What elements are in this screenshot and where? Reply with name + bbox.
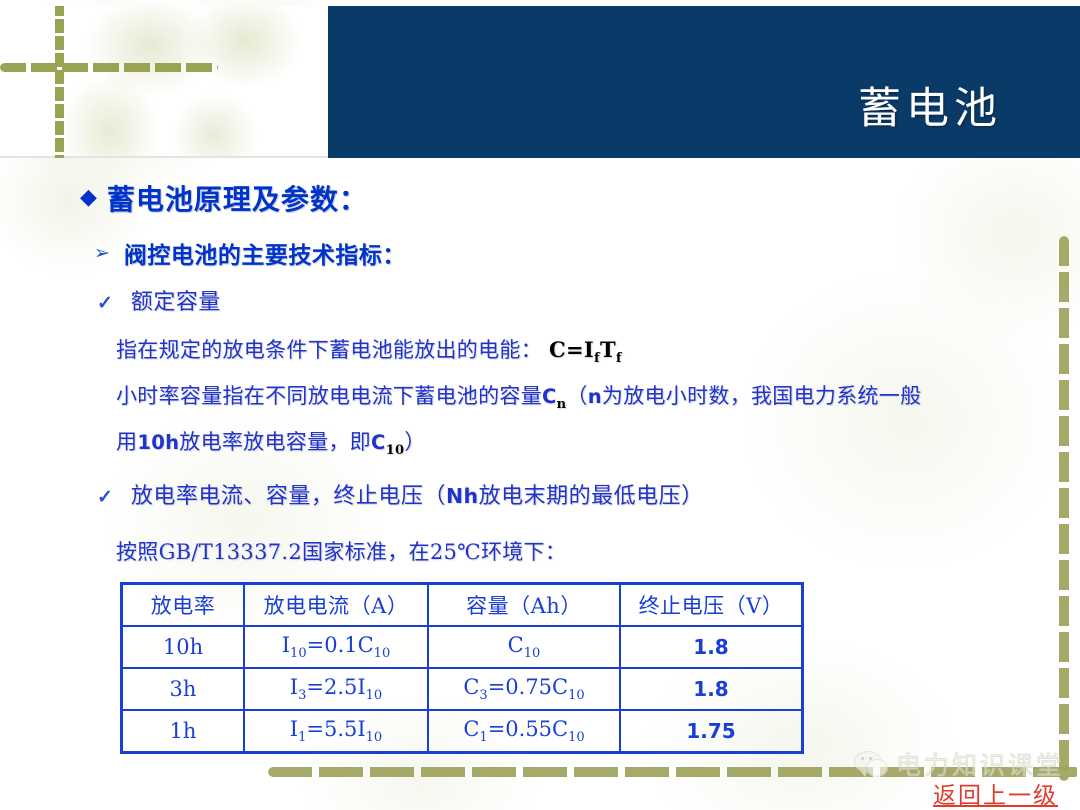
slide-content: ◆ 蓄电池原理及参数： ➢ 阀控电池的主要技术指标： ✓ 额定容量 指在规定的放… (0, 158, 1080, 810)
back-link[interactable]: 返回上一级 (933, 776, 1058, 810)
formula-capacity: C=IfTf (549, 337, 622, 362)
table-header-cell: 终止电压（V） (620, 584, 803, 627)
spec-table: 放电率放电电流（A）容量（Ah）终止电压（V）10hI10=0.1C10C101… (120, 582, 804, 754)
page-title: 蓄电池 (858, 74, 1002, 136)
cell-discharge-current: I3=2.5I10 (244, 668, 428, 710)
table-header-cell: 放电率 (122, 584, 245, 627)
table-header-row: 放电率放电电流（A）容量（Ah）终止电压（V） (122, 584, 803, 627)
bullet-level2-label: 阀控电池的主要技术指标： (124, 236, 406, 270)
hourly-rate-text-b: （n为放电小时数，我国电力系统一般 (566, 384, 921, 408)
table-row: 1hI1=5.5I10C1=0.55C101.75 (122, 710, 803, 753)
spec-table-wrapper: 放电率放电电流（A）容量（Ah）终止电压（V）10hI10=0.1C10C101… (120, 582, 804, 754)
hourly-rate2-sub-10: 10 (386, 443, 405, 458)
paragraph-hourly-rate-line1: 小时率容量指在不同放电电流下蓄电池的容量Cn（n为放电小时数，我国电力系统一般 (116, 380, 921, 412)
vine-horizontal-decor (0, 63, 218, 72)
cell-end-voltage: 1.75 (620, 710, 803, 753)
slide-root: 蓄电池 ◆ 蓄电池原理及参数： ➢ 阀控电池的主要技术指标： ✓ 额定容量 指在… (0, 0, 1080, 810)
table-row: 10hI10=0.1C10C101.8 (122, 626, 803, 668)
paragraph-definition-text: 指在规定的放电条件下蓄电池能放出的电能： (116, 338, 542, 362)
check-bullet-icon: ✓ (97, 294, 113, 313)
paragraph-standard-note: 按照GB/T13337.2国家标准，在25℃环境下： (116, 536, 566, 566)
arrow-bullet-icon: ➢ (94, 244, 110, 263)
cell-capacity: C1=0.55C10 (428, 710, 620, 753)
bullet-check-2-label: 放电率电流、容量，终止电压（Nh放电末期的最低电压） (131, 478, 704, 510)
vine-vertical-decor (55, 6, 64, 158)
corner-decorative-photo (0, 6, 328, 158)
cell-end-voltage: 1.8 (620, 668, 803, 710)
spec-table-body: 放电率放电电流（A）容量（Ah）终止电压（V）10hI10=0.1C10C101… (122, 584, 803, 753)
hourly-rate2-text-a: 用10h放电率放电容量，即C (116, 430, 386, 454)
cell-capacity: C10 (428, 626, 620, 668)
bullet-level2: ➢ 阀控电池的主要技术指标： (94, 236, 406, 270)
diamond-bullet-icon: ◆ (80, 186, 97, 208)
bullet-check-1-label: 额定容量 (131, 284, 221, 316)
bullet-level1: ◆ 蓄电池原理及参数： (80, 178, 368, 218)
hourly-rate-text-a: 小时率容量指在不同放电电流下蓄电池的容量C (116, 384, 557, 408)
cell-discharge-rate: 1h (122, 710, 245, 753)
check-bullet-icon-2: ✓ (97, 488, 113, 507)
bullet-level1-label: 蓄电池原理及参数： (107, 178, 368, 218)
cell-discharge-rate: 10h (122, 626, 245, 668)
paragraph-hourly-rate-line2: 用10h放电率放电容量，即C10） (116, 426, 426, 458)
paragraph-definition: 指在规定的放电条件下蓄电池能放出的电能： C=IfTf (116, 334, 622, 366)
cell-end-voltage: 1.8 (620, 626, 803, 668)
bullet-check-2: ✓ 放电率电流、容量，终止电压（Nh放电末期的最低电压） (97, 478, 704, 510)
hourly-rate-sub-n: n (557, 397, 567, 412)
header-bar: 蓄电池 (328, 6, 1080, 158)
cell-discharge-current: I1=5.5I10 (244, 710, 428, 753)
bullet-check-1: ✓ 额定容量 (97, 284, 221, 316)
cell-discharge-current: I10=0.1C10 (244, 626, 428, 668)
table-header-cell: 容量（Ah） (428, 584, 620, 627)
cell-discharge-rate: 3h (122, 668, 245, 710)
table-row: 3hI3=2.5I10C3=0.75C101.8 (122, 668, 803, 710)
cell-capacity: C3=0.75C10 (428, 668, 620, 710)
hourly-rate2-text-b: ） (404, 430, 425, 454)
table-header-cell: 放电电流（A） (244, 584, 428, 627)
